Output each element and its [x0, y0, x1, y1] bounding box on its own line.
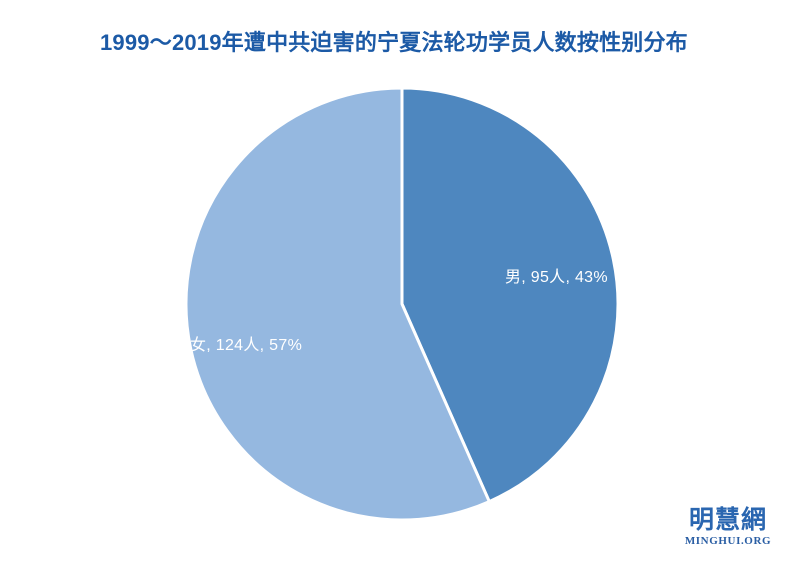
- pie-chart: 男, 95人, 43% 女, 124人, 57%: [0, 0, 807, 577]
- watermark-chinese-text: 明慧網: [676, 506, 780, 534]
- chart-screenshot: 1999～2019年遭中共迫害的宁夏法轮功学员人数按性别分布 男, 95人, 4…: [0, 0, 807, 577]
- pie-slice-label-female: 女, 124人, 57%: [190, 331, 302, 355]
- pie-slice-label-male: 男, 95人, 43%: [505, 263, 608, 287]
- watermark-logo: 明慧網 MINGHUI.ORG: [676, 506, 780, 548]
- pie-chart-svg: [0, 0, 807, 577]
- watermark-english-text: MINGHUI.ORG: [676, 534, 780, 548]
